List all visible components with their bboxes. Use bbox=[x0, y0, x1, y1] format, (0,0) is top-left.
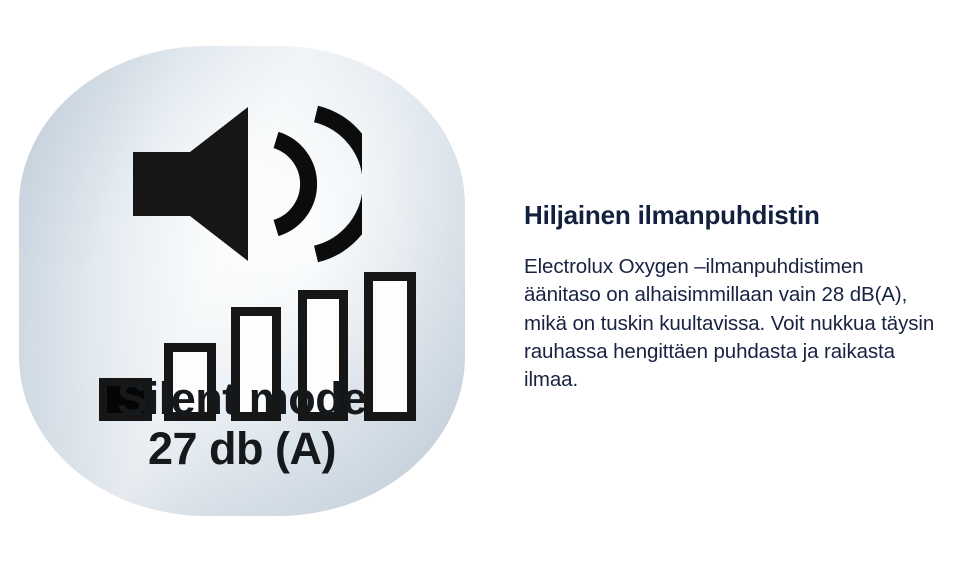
slide-canvas: Silent mode 27 db (A) Hiljainen ilmanpuh… bbox=[0, 0, 960, 565]
description-paragraph: Electrolux Oxygen –ilmanpuhdistimen ääni… bbox=[524, 253, 942, 394]
page-title: Hiljainen ilmanpuhdistin bbox=[524, 200, 942, 231]
watermark-text bbox=[943, 540, 948, 557]
description-column: Hiljainen ilmanpuhdistin Electrolux Oxyg… bbox=[524, 200, 942, 395]
badge-caption: Silent mode 27 db (A) bbox=[19, 376, 465, 472]
silent-mode-badge: Silent mode 27 db (A) bbox=[19, 46, 465, 516]
badge-caption-line-1: Silent mode bbox=[19, 376, 465, 422]
badge-caption-line-2: 27 db (A) bbox=[19, 426, 465, 472]
badge-content: Silent mode 27 db (A) bbox=[19, 46, 465, 516]
